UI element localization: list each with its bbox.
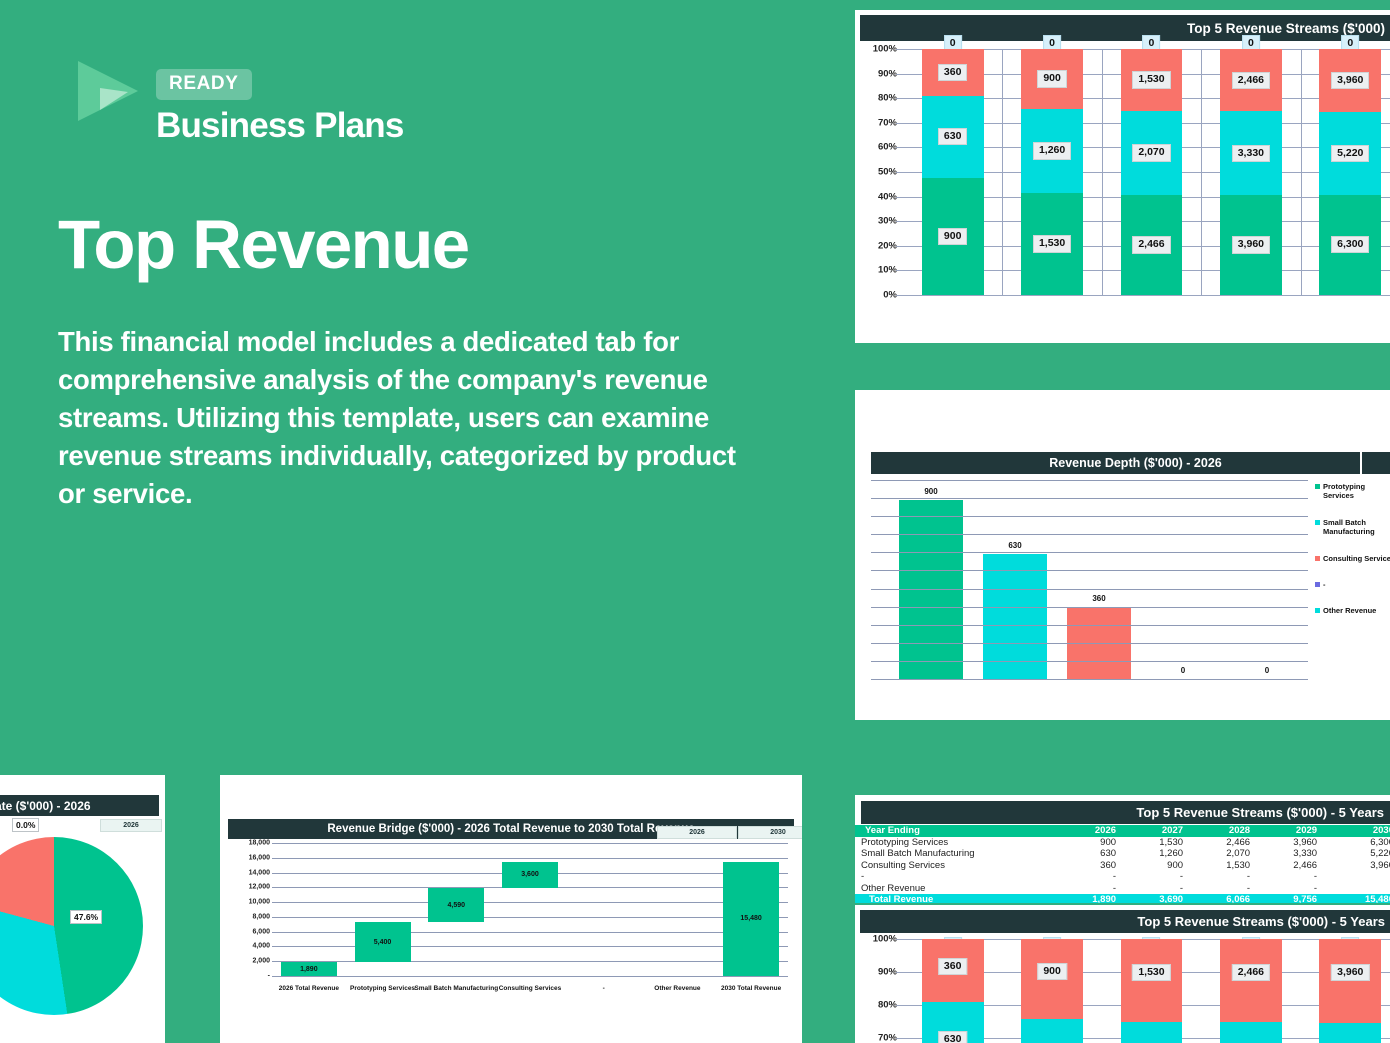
table-total-label: Total Revenue <box>855 894 1055 903</box>
y-tick-label: 16,000 <box>249 854 270 861</box>
axis-tick <box>896 295 903 296</box>
y-tick-label: 100% <box>873 44 897 55</box>
table-total-cell: 6,066 <box>1189 894 1256 903</box>
table-total-cell: 3,690 <box>1122 894 1189 903</box>
table-row: ------ <box>855 871 1390 883</box>
y-tick-label: 10% <box>878 265 897 276</box>
bar-value-label: 630 <box>938 128 968 145</box>
waterfall-bar[interactable]: 1,890 <box>281 962 337 976</box>
bar-group[interactable]: 4,590 <box>419 843 493 976</box>
banner-filler <box>1360 452 1390 474</box>
hero-panel: READY Business Plans Top Revenue This fi… <box>0 0 830 780</box>
x-axis-labels-revenue-bridge: 2026 Total RevenuePrototyping ServicesSm… <box>272 976 788 998</box>
bar-segment-small-batch[interactable] <box>1021 1019 1083 1043</box>
table-cell: 900 <box>1122 860 1189 872</box>
bar-group[interactable]: 01,5302,0702,466 <box>1102 49 1201 295</box>
bar-group[interactable]: 01,530 <box>1102 939 1201 1043</box>
gridline <box>871 570 1308 571</box>
table-cell: - <box>1256 883 1323 895</box>
y-tick-label: 8,000 <box>252 913 270 920</box>
bar-value-label: 2,466 <box>1132 236 1170 253</box>
bar-value-label: 1,260 <box>1033 142 1071 159</box>
bar-value-label: 4,590 <box>448 902 466 909</box>
bar-group[interactable]: 3,600 <box>493 843 567 976</box>
chart-card-revenue-bridge: Revenue Bridge ($'000) - 2026 Total Reve… <box>220 775 802 1043</box>
table-cell: - <box>1122 871 1189 883</box>
table-cell: 3,960 <box>1256 837 1323 849</box>
bar-segment-consulting[interactable]: 900 <box>1021 939 1083 1019</box>
table-row-label: Prototyping Services <box>855 837 1055 849</box>
bar-group[interactable]: 900 <box>889 480 973 679</box>
bar-value-label: 900 <box>938 228 968 245</box>
axis-tick <box>896 972 903 973</box>
y-tick-label: 100% <box>873 934 897 945</box>
legend-label: - <box>1323 580 1326 589</box>
table-cell: - <box>1256 871 1323 883</box>
table-row-label: Consulting Services <box>855 860 1055 872</box>
bar-segment-consulting[interactable]: 3,960 <box>1319 49 1381 112</box>
axis-tick <box>896 270 903 271</box>
bar-value-label: 360 <box>938 958 968 975</box>
legend-swatch <box>1315 520 1320 525</box>
table-cell: 2,466 <box>1189 837 1256 849</box>
bar-group[interactable]: 03,9605,2206,300 <box>1301 49 1390 295</box>
bar-value-label: 5,400 <box>374 939 392 946</box>
year-tab-run-rate[interactable]: 2026 <box>100 819 162 832</box>
gridline <box>871 552 1308 553</box>
chart-card-revenue-depth: Revenue Depth ($'000) - 2026 90063036000… <box>855 390 1390 720</box>
table-cell: - <box>1323 883 1390 895</box>
axis-tick <box>896 123 903 124</box>
brand-logo: READY Business Plans <box>72 55 404 146</box>
y-tick-label: 80% <box>878 999 897 1010</box>
axis-tick <box>896 172 903 173</box>
bar-group[interactable] <box>567 843 641 976</box>
y-tick-label: 6,000 <box>252 928 270 935</box>
bar-group[interactable]: 0360630900 <box>903 49 1002 295</box>
gridline <box>871 589 1308 590</box>
chart-card-top5-stacked-5years: Top 5 Revenue Streams ($'000) - 5 Years … <box>855 905 1390 1043</box>
bar-segment-small-batch[interactable] <box>1121 1022 1183 1043</box>
table-cell: 6,300 <box>1323 837 1390 849</box>
y-axis-revenue-bridge: -2,0004,0006,0008,00010,00012,00014,0001… <box>236 843 270 976</box>
legend-item[interactable]: Consulting Services <box>1315 554 1390 563</box>
table-total-cell: 1,890 <box>1055 894 1122 903</box>
bar-value-label: 0 <box>1181 666 1185 675</box>
bar-group[interactable]: 09001,2601,530 <box>1002 49 1101 295</box>
bar-group[interactable]: 5,400 <box>346 843 420 976</box>
table-cell: 3,960 <box>1323 860 1390 872</box>
bar-segment-prototyping[interactable]: 2,466 <box>1121 195 1183 295</box>
bar-value-label: 900 <box>1037 963 1067 980</box>
table-cell: 1,530 <box>1189 860 1256 872</box>
bar-group[interactable]: 03,960 <box>1301 939 1390 1043</box>
table-cell: - <box>1189 871 1256 883</box>
bar-segment-consulting[interactable]: 1,530 <box>1121 49 1183 111</box>
x-axis-label: Consulting Services <box>493 978 567 998</box>
table-cell: - <box>1055 883 1122 895</box>
table-body: Prototyping Services9001,5302,4663,9606,… <box>855 837 1390 904</box>
gridline <box>871 607 1308 608</box>
bar-segment-consulting[interactable]: 360 <box>922 939 984 1002</box>
bar-value-label: 1,530 <box>1033 235 1071 252</box>
gridline <box>871 498 1308 499</box>
x-axis-label: 2026 Total Revenue <box>272 978 346 998</box>
chart-plot-top5-stacked: 0%10%20%30%40%50%60%70%80%90%100% 036063… <box>855 49 1390 324</box>
pie-label-other: 0.0% <box>12 818 39 832</box>
bar-value-label: 6,300 <box>1331 236 1369 253</box>
gridline <box>871 516 1308 517</box>
legend-item[interactable]: Prototyping Services <box>1315 482 1390 501</box>
legend-label: Other Revenue <box>1323 606 1376 615</box>
y-tick-label: 90% <box>878 68 897 79</box>
bar-value-label: 3,600 <box>521 871 539 878</box>
bar-value-label: 15,480 <box>740 915 761 922</box>
table-top5-revenue-streams: Year Ending20262027202820292030 Prototyp… <box>855 825 1390 903</box>
table-cell: - <box>1055 871 1122 883</box>
ready-badge: READY <box>156 69 252 100</box>
gridline <box>903 295 1390 296</box>
bar-segment-small-batch[interactable]: 630 <box>922 96 984 178</box>
bar-segment-consulting[interactable]: 2,466 <box>1220 939 1282 1022</box>
axis-tick <box>896 49 903 50</box>
year-tab-bridge-2030[interactable]: 2030 <box>738 826 802 839</box>
table-cell: 2,466 <box>1256 860 1323 872</box>
chart-title-top5-stacked-5years: Top 5 Revenue Streams ($'000) - 5 Years <box>860 910 1390 933</box>
y-tick-label: 10,000 <box>249 899 270 906</box>
bars-top5-stacked-5years: 0360630090001,53002,46603,960 <box>903 939 1390 1043</box>
chart-plot-revenue-bridge: -2,0004,0006,0008,00010,00012,00014,0001… <box>236 843 792 998</box>
bar-segment-small-batch[interactable]: 2,070 <box>1121 111 1183 195</box>
pie-label-prototyping: 47.6% <box>70 910 102 924</box>
gridline <box>871 480 1308 481</box>
bar-group[interactable]: 02,4663,3303,960 <box>1201 49 1300 295</box>
table-row-label: Small Batch Manufacturing <box>855 848 1055 860</box>
y-tick-label: 90% <box>878 966 897 977</box>
pie-slices <box>0 837 143 1015</box>
table-row: Consulting Services3609001,5302,4663,960 <box>855 860 1390 872</box>
bar-value-label: 1,530 <box>1132 71 1170 88</box>
waterfall-bar[interactable]: 4,590 <box>428 888 484 922</box>
gridline <box>871 643 1308 644</box>
y-tick-label: 20% <box>878 240 897 251</box>
bar-segment-small-batch[interactable]: 5,220 <box>1319 112 1381 195</box>
x-axis-label: Prototyping Services <box>346 978 420 998</box>
table-cell: - <box>1323 871 1390 883</box>
table-cell: 1,530 <box>1122 837 1189 849</box>
y-tick-label: 70% <box>878 117 897 128</box>
axis-tick <box>896 98 903 99</box>
axis-tick <box>896 246 903 247</box>
table-cell: 3,330 <box>1256 848 1323 860</box>
x-axis-label: 2030 Total Revenue <box>714 978 788 998</box>
bar-group[interactable]: 0900 <box>1002 939 1101 1043</box>
chart-plot-top5-stacked-5years: 70%80%90%100% 0360630090001,53002,46603,… <box>855 939 1390 1043</box>
page-description: This financial model includes a dedicate… <box>58 323 758 513</box>
bar-value-label: 1,890 <box>300 966 318 973</box>
bar-segment-prototyping[interactable]: 1,530 <box>1021 193 1083 295</box>
legend-item[interactable]: Small Batch Manufacturing <box>1315 518 1390 537</box>
table-cell: 5,220 <box>1323 848 1390 860</box>
bar-value-label: 2,070 <box>1132 144 1170 161</box>
table-column-header: Year Ending <box>855 825 1055 837</box>
bar-value-label: 630 <box>938 1031 968 1043</box>
bar-value-label: 3,330 <box>1232 145 1270 162</box>
gridline <box>871 679 1308 680</box>
y-tick-label: 0% <box>883 290 897 301</box>
waterfall-bar[interactable]: 15,480 <box>723 862 779 976</box>
legend-revenue-depth: Prototyping ServicesSmall Batch Manufact… <box>1315 482 1390 633</box>
waterfall-bar[interactable]: 5,400 <box>355 922 411 962</box>
y-tick-label: 14,000 <box>249 869 270 876</box>
brand-name: Business Plans <box>156 106 404 146</box>
y-tick-label: 80% <box>878 93 897 104</box>
y-tick-label: 18,000 <box>249 840 270 847</box>
bar-value-label: 5,220 <box>1331 145 1369 162</box>
y-tick-label: 60% <box>878 142 897 153</box>
y-tick-label: 4,000 <box>252 943 270 950</box>
axis-tick <box>896 1038 903 1039</box>
bar-value-label: 3,960 <box>1232 236 1270 253</box>
legend-label: Consulting Services <box>1323 554 1390 563</box>
bar-value-label: 1,530 <box>1132 964 1170 981</box>
y-tick-label: 12,000 <box>249 884 270 891</box>
bar-segment-consulting[interactable]: 2,466 <box>1220 49 1282 111</box>
bar-group[interactable]: 1,890 <box>272 843 346 976</box>
bar-value-label: 630 <box>1008 541 1021 550</box>
table-title-top5: Top 5 Revenue Streams ($'000) - 5 Years <box>861 801 1390 824</box>
axis-tick <box>896 74 903 75</box>
bar-group[interactable]: 0 <box>1141 480 1225 679</box>
bar-group[interactable]: 15,480 <box>714 843 788 976</box>
bar-group[interactable]: 630 <box>973 480 1057 679</box>
bar-value-label: 900 <box>924 487 937 496</box>
bar-value-label: 3,960 <box>1331 964 1369 981</box>
table-column-header: 2029 <box>1256 825 1323 837</box>
bar-segment-small-batch[interactable] <box>1220 1022 1282 1043</box>
table-row: Other Revenue----- <box>855 883 1390 895</box>
bar-group[interactable] <box>641 843 715 976</box>
table-column-header: 2030 <box>1323 825 1390 837</box>
table-column-header: 2026 <box>1055 825 1122 837</box>
bar-group[interactable]: 360 <box>1057 480 1141 679</box>
bar-segment-consulting[interactable]: 360 <box>922 49 984 96</box>
legend-swatch <box>1315 582 1320 587</box>
bar-value-label: 0 <box>1265 666 1269 675</box>
gridline <box>871 534 1308 535</box>
bars-top5-stacked: 036063090009001,2601,53001,5302,0702,466… <box>903 49 1390 295</box>
table-cell: 2,070 <box>1189 848 1256 860</box>
chart-title-run-rate: Run-Rate ($'000) - 2026 <box>0 795 159 816</box>
year-tab-bridge-2026[interactable]: 2026 <box>657 826 737 839</box>
x-axis-label: Small Batch Manufacturing <box>419 978 493 998</box>
table-cell: 360 <box>1055 860 1122 872</box>
bar-segment-small-batch[interactable]: 1,260 <box>1021 109 1083 193</box>
table-column-header: 2027 <box>1122 825 1189 837</box>
table-row: Small Batch Manufacturing6301,2602,0703,… <box>855 848 1390 860</box>
page-title: Top Revenue <box>58 205 469 284</box>
table-card-top5: Top 5 Revenue Streams ($'000) - 5 Years … <box>855 795 1390 903</box>
bar-segment-consulting[interactable]: 1,530 <box>1121 939 1183 1022</box>
legend-item[interactable]: - <box>1315 580 1390 589</box>
chart-plot-revenue-depth: 90063036000 <box>871 480 1308 680</box>
bar-value-label: 2,466 <box>1232 964 1270 981</box>
legend-label: Small Batch Manufacturing <box>1323 518 1390 537</box>
gridline <box>871 625 1308 626</box>
table-cell: 900 <box>1055 837 1122 849</box>
table-cell: - <box>1189 883 1256 895</box>
y-tick-label: - <box>268 973 270 980</box>
chart-card-run-rate-pie: Run-Rate ($'000) - 2026 2026 47.6% 33.3%… <box>0 775 165 1043</box>
table-total-cell: 9,756 <box>1256 894 1323 903</box>
table-column-header: 2028 <box>1189 825 1256 837</box>
axis-tick <box>896 221 903 222</box>
axis-tick <box>896 939 903 940</box>
table-total-row: Total Revenue1,8903,6906,0669,75615,480 <box>855 894 1390 903</box>
legend-label: Prototyping Services <box>1323 482 1390 501</box>
table-row-label: - <box>855 871 1055 883</box>
table-cell: 1,260 <box>1122 848 1189 860</box>
bars-revenue-depth: 90063036000 <box>889 480 1309 679</box>
y-tick-label: 40% <box>878 191 897 202</box>
table-row-label: Other Revenue <box>855 883 1055 895</box>
chart-card-top5-stacked: Top 5 Revenue Streams ($'000) 0%10%20%30… <box>855 10 1390 343</box>
pie-chart-run-rate: 47.6% 33.3% 19.0% 0.0% 0.0% <box>0 837 155 1027</box>
y-tick-label: 70% <box>878 1032 897 1043</box>
y-axis-top5-stacked-5years: 70%80%90%100% <box>855 939 903 1043</box>
bar-segment-small-batch[interactable]: 630 <box>922 1002 984 1043</box>
bar-value-label: 2,466 <box>1232 72 1270 89</box>
bar-value-label: 900 <box>1037 70 1067 87</box>
play-triangle-logo-icon <box>72 55 144 127</box>
bar-segment-consulting[interactable]: 900 <box>1021 49 1083 109</box>
axis-tick <box>896 1005 903 1006</box>
chart-title-top5-stacked: Top 5 Revenue Streams ($'000) <box>860 15 1390 41</box>
table-row: Prototyping Services9001,5302,4663,9606,… <box>855 837 1390 849</box>
bar-value-label: 3,960 <box>1331 72 1369 89</box>
bar-value-label: 360 <box>1092 594 1105 603</box>
bar-segment-prototyping[interactable]: 900 <box>922 178 984 295</box>
legend-swatch <box>1315 484 1320 489</box>
bar-group[interactable]: 0 <box>1225 480 1309 679</box>
bar-segment-prototyping[interactable]: 3,960 <box>1220 195 1282 295</box>
axis-tick <box>896 147 903 148</box>
bar-segment-small-batch[interactable]: 3,330 <box>1220 111 1282 195</box>
y-tick-label: 30% <box>878 216 897 227</box>
x-axis-label: Other Revenue <box>641 978 715 998</box>
bar-value-label: 360 <box>938 64 968 81</box>
legend-item[interactable]: Other Revenue <box>1315 606 1390 615</box>
bars-revenue-bridge: 1,8905,4004,5903,60015,480 <box>272 843 788 976</box>
x-axis-label: - <box>567 978 641 998</box>
chart-title-revenue-depth: Revenue Depth ($'000) - 2026 <box>871 452 1390 474</box>
gridline <box>871 661 1308 662</box>
bar-group[interactable]: 02,466 <box>1201 939 1300 1043</box>
table-total-cell: 15,480 <box>1323 894 1390 903</box>
table-cell: 630 <box>1055 848 1122 860</box>
table-header-row: Year Ending20262027202820292030 <box>855 825 1390 837</box>
legend-swatch <box>1315 608 1320 613</box>
bar-segment-prototyping[interactable]: 6,300 <box>1319 195 1381 295</box>
waterfall-bar[interactable]: 3,600 <box>502 862 558 889</box>
table-cell: - <box>1122 883 1189 895</box>
legend-swatch <box>1315 556 1320 561</box>
bar-segment-consulting[interactable]: 3,960 <box>1319 939 1381 1023</box>
axis-tick <box>896 197 903 198</box>
y-tick-label: 2,000 <box>252 958 270 965</box>
y-tick-label: 50% <box>878 167 897 178</box>
bar-segment-small-batch[interactable] <box>1319 1023 1381 1043</box>
bar-group[interactable]: 0360630 <box>903 939 1002 1043</box>
